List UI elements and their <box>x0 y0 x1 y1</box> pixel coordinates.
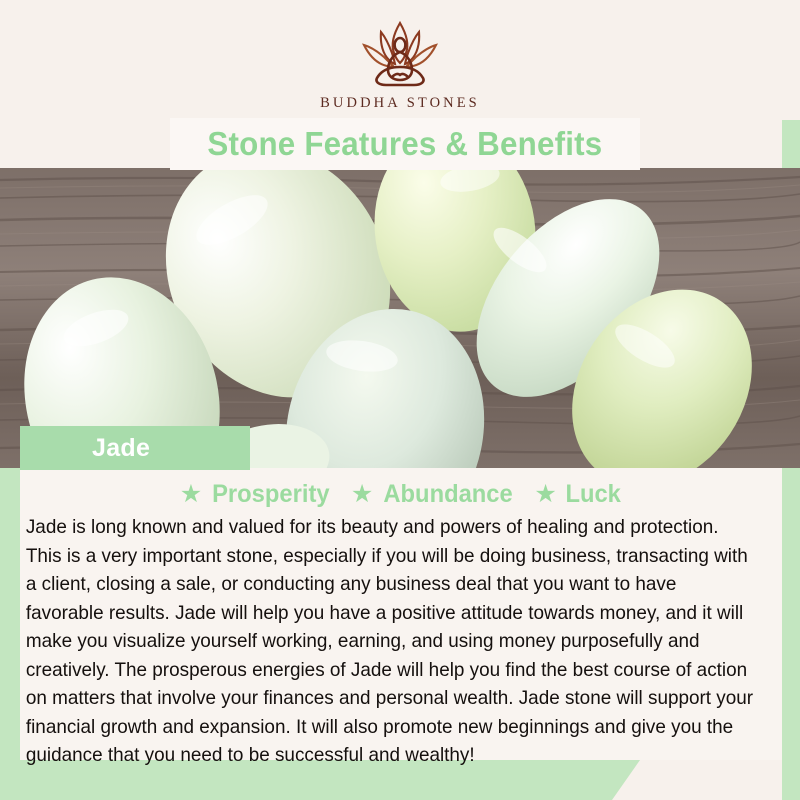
stone-photo <box>0 168 800 468</box>
content-panel: ★ Prosperity ★ Abundance ★ Luck Jade is … <box>20 468 782 760</box>
star-icon: ★ <box>534 482 556 507</box>
brand-header: BUDDHA STONES <box>0 0 800 120</box>
benefit-item-prosperity: ★ Prosperity <box>180 480 333 509</box>
star-icon: ★ <box>180 482 202 507</box>
stone-photo-illustration <box>0 168 800 468</box>
infographic-poster: BUDDHA STONES Stone Features & Benefits … <box>0 0 800 800</box>
stone-description: Jade is long known and valued for its be… <box>20 513 763 770</box>
benefit-label: Luck <box>565 480 620 509</box>
lotus-meditation-icon <box>348 19 452 91</box>
stone-name-badge: Jade <box>20 426 250 470</box>
stone-name-label: Jade <box>92 434 150 463</box>
title-banner: Stone Features & Benefits <box>170 118 640 170</box>
benefit-item-luck: ★ Luck <box>534 480 622 509</box>
benefit-label: Abundance <box>384 480 513 509</box>
benefit-item-abundance: ★ Abundance <box>351 480 517 509</box>
benefit-label: Prosperity <box>212 480 329 509</box>
star-icon: ★ <box>351 482 373 507</box>
brand-wordmark: BUDDHA STONES <box>320 95 480 112</box>
benefits-list: ★ Prosperity ★ Abundance ★ Luck <box>20 468 782 509</box>
page-title: Stone Features & Benefits <box>208 125 603 163</box>
